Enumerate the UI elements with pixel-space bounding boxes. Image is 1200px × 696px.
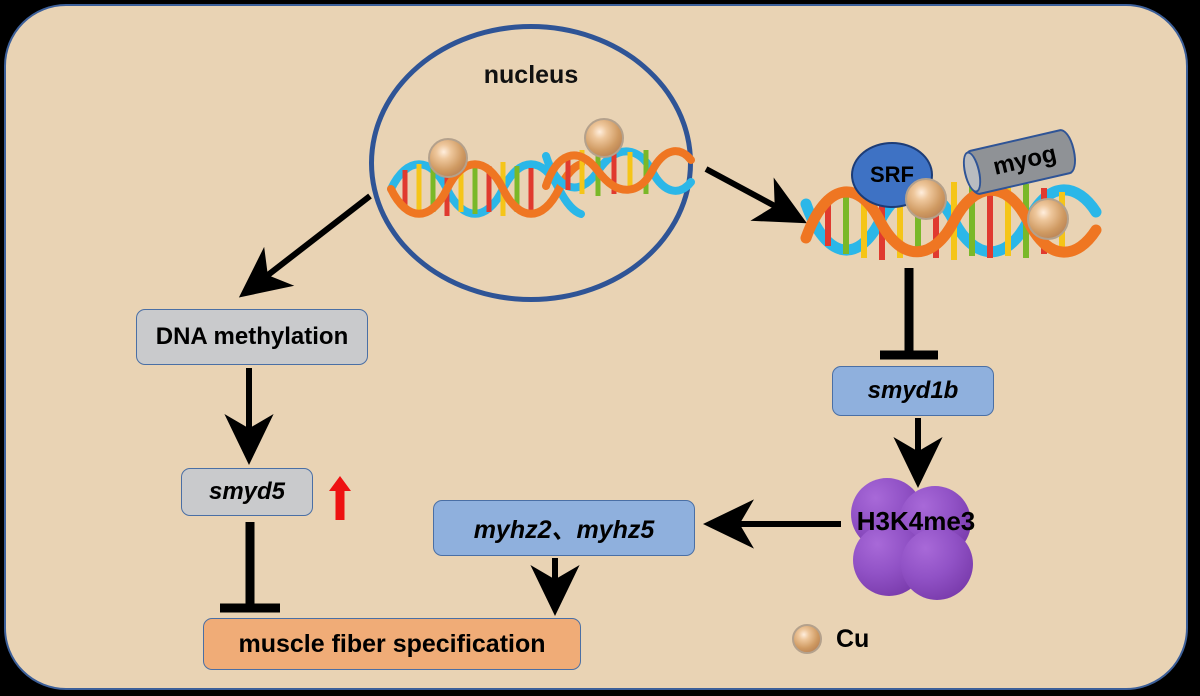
- copper-ion-promoter-1: [905, 178, 947, 220]
- histone-h3k4me3[interactable]: [851, 478, 979, 598]
- box-smyd5[interactable]: smyd5: [181, 468, 313, 516]
- copper-ion-icon: [792, 624, 822, 654]
- box-myhz-label: myhz2、myhz5: [474, 510, 655, 546]
- box-dna-methylation-label: DNA methylation: [156, 323, 348, 351]
- box-smyd1b[interactable]: smyd1b: [832, 366, 994, 416]
- box-smyd1b-label: smyd1b: [868, 377, 959, 405]
- box-muscle-fiber-label: muscle fiber specification: [238, 630, 545, 659]
- diagram-panel: nucleus: [4, 4, 1188, 690]
- legend-copper-label: Cu: [836, 625, 869, 654]
- copper-ion-nucleus-1: [428, 138, 468, 178]
- box-smyd5-label: smyd5: [209, 478, 285, 506]
- smyd5-upregulation-icon: [328, 476, 352, 520]
- nucleus-label: nucleus: [446, 61, 616, 90]
- box-muscle-fiber-specification[interactable]: muscle fiber specification: [203, 618, 581, 670]
- histone-subunit-4: [901, 528, 973, 600]
- srf-label: SRF: [870, 162, 914, 188]
- copper-ion-promoter-2: [1027, 198, 1069, 240]
- copper-ion-nucleus-2: [584, 118, 624, 158]
- figure-canvas: nucleus: [0, 0, 1200, 696]
- edge-nucleus-to-promoter: [706, 169, 799, 219]
- histone-h3k4me3-label: H3K4me3: [816, 506, 1016, 537]
- legend-copper: Cu: [792, 624, 869, 654]
- box-myhz[interactable]: myhz2、myhz5: [433, 500, 695, 556]
- edge-nucleus-to-dna-methylation: [246, 196, 370, 292]
- box-dna-methylation[interactable]: DNA methylation: [136, 309, 368, 365]
